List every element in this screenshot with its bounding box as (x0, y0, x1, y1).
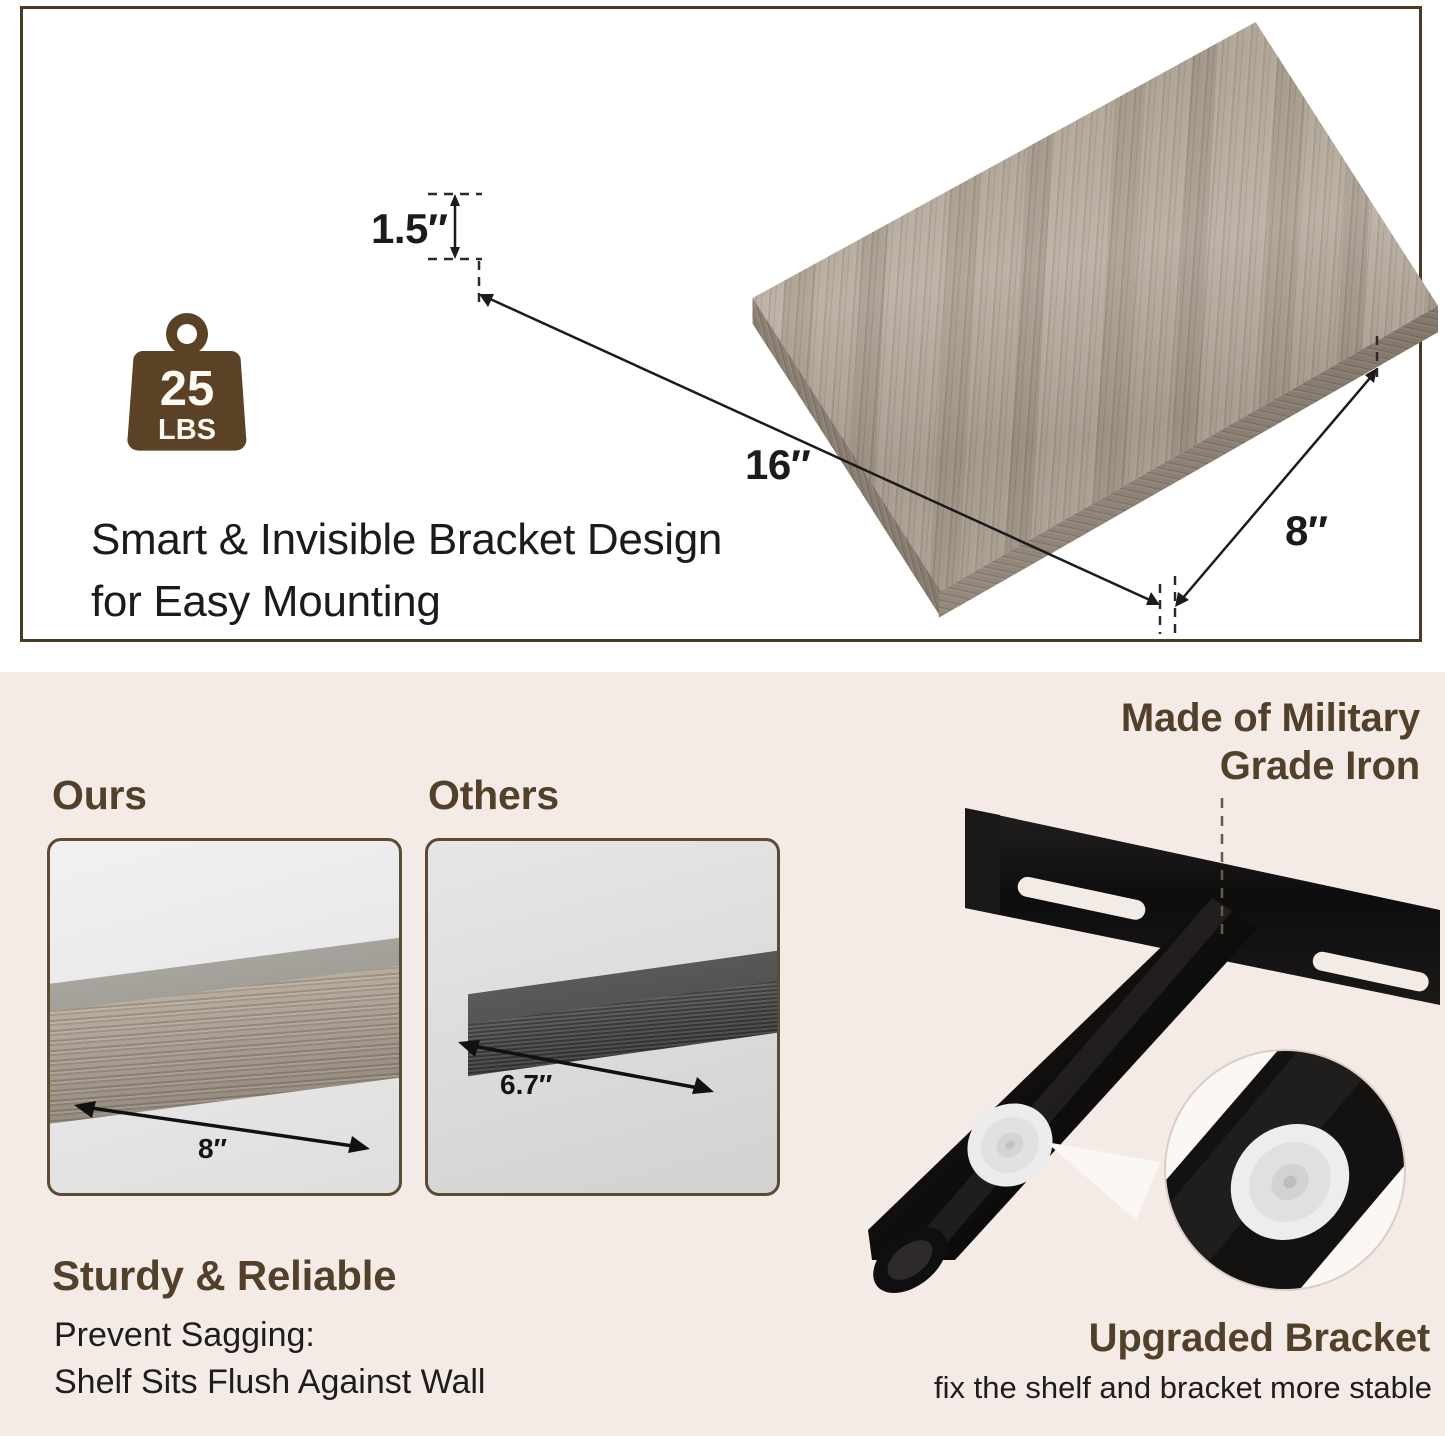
weight-icon: 25 LBS (127, 309, 247, 459)
others-dimension-arrow (456, 1037, 716, 1101)
weight-value: 25 (160, 362, 215, 416)
top-panel: 1.5″ 16″ 8″ 25 LBS Smart & Invisible Bra… (0, 0, 1445, 660)
headline-line-1: Smart & Invisible Bracket Design (91, 509, 891, 571)
dimension-label-thickness: 1.5″ (371, 205, 448, 253)
bracket-svg (860, 790, 1440, 1300)
dimension-label-width: 16″ (745, 441, 810, 489)
sturdy-line-2: Shelf Sits Flush Against Wall (54, 1359, 485, 1406)
sturdy-description: Prevent Sagging: Shelf Sits Flush Agains… (54, 1312, 485, 1406)
magnifier-pointer (1046, 1142, 1160, 1220)
military-line-1: Made of Military (900, 694, 1420, 742)
others-heading: Others (428, 772, 559, 819)
military-grade-heading: Made of Military Grade Iron (900, 694, 1420, 790)
others-dimension-label: 6.7″ (500, 1069, 552, 1101)
military-line-2: Grade Iron (900, 742, 1420, 790)
weight-capacity-badge: 25 LBS (127, 309, 247, 459)
upgraded-bracket-subtext: fix the shelf and bracket more stable (760, 1370, 1432, 1406)
sturdy-heading: Sturdy & Reliable (52, 1252, 396, 1300)
ours-photo-panel: 8″ (47, 838, 402, 1196)
top-panel-frame: 1.5″ 16″ 8″ 25 LBS Smart & Invisible Bra… (20, 6, 1422, 642)
upgraded-bracket-heading: Upgraded Bracket (760, 1316, 1430, 1361)
weight-unit: LBS (158, 414, 216, 446)
top-headline: Smart & Invisible Bracket Design for Eas… (91, 509, 891, 634)
others-photo-panel: 6.7″ (425, 838, 780, 1196)
ours-dimension-label: 8″ (198, 1133, 227, 1165)
magnifier-callout (1110, 990, 1440, 1300)
bracket-illustration (860, 790, 1440, 1300)
sturdy-line-1: Prevent Sagging: (54, 1312, 485, 1359)
dimension-label-depth: 8″ (1285, 507, 1327, 555)
ours-heading: Ours (52, 772, 147, 819)
headline-line-2: for Easy Mounting (91, 571, 891, 633)
